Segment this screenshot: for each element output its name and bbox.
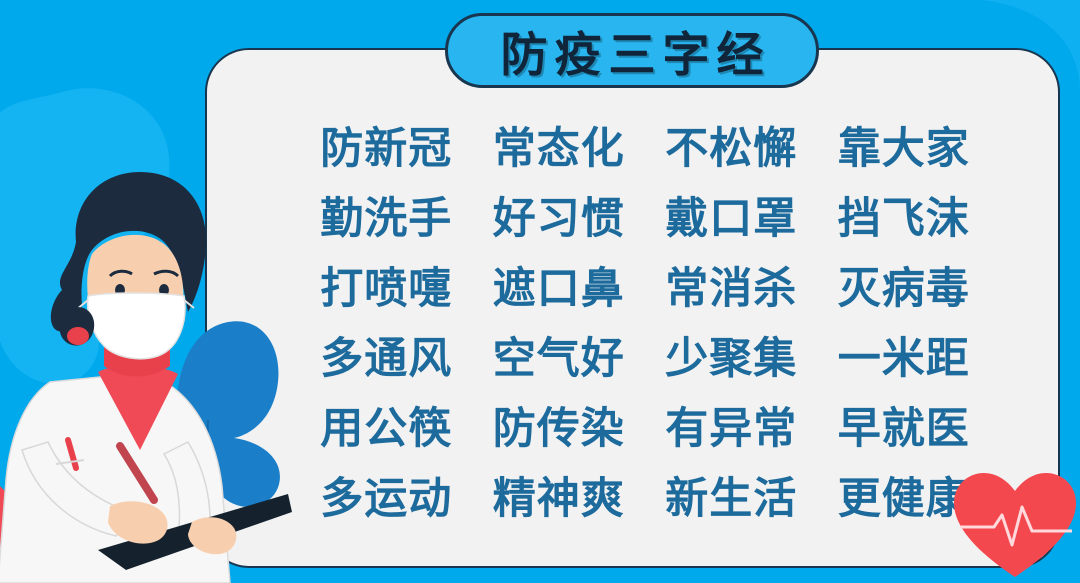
phrase-item: 挡飞沫 [818, 180, 991, 250]
phrase-item: 一米距 [818, 320, 991, 390]
face-mask [88, 293, 185, 359]
phrase-item: 戴口罩 [645, 180, 818, 250]
phrase-item: 新生活 [645, 460, 818, 530]
phrase-item: 不松懈 [645, 110, 818, 180]
poster-canvas: 防疫三字经 防新冠 常态化 不松懈 靠大家 勤洗手 好习惯 戴口罩 挡飞沫 打喷… [0, 0, 1080, 583]
phrase-item: 有异常 [645, 390, 818, 460]
phrase-item: 防新冠 [300, 110, 473, 180]
phrase-item: 灭病毒 [818, 250, 991, 320]
phrase-item: 精神爽 [473, 460, 646, 530]
phrase-item: 靠大家 [818, 110, 991, 180]
phrase-item: 空气好 [473, 320, 646, 390]
phrase-item: 勤洗手 [300, 180, 473, 250]
poster-title-pill: 防疫三字经 [445, 13, 819, 88]
phrase-item: 用公筷 [300, 390, 473, 460]
heart-with-ecg-line-icon [950, 465, 1080, 583]
phrase-item: 常态化 [473, 110, 646, 180]
phrase-item: 好习惯 [473, 180, 646, 250]
phrase-item: 多通风 [300, 320, 473, 390]
doctor-illustration [0, 150, 292, 583]
phrase-item: 多运动 [300, 460, 473, 530]
page-title: 防疫三字经 [494, 16, 771, 85]
hair-tie [67, 327, 89, 345]
phrase-item: 遮口鼻 [473, 250, 646, 320]
phrase-item: 早就医 [818, 390, 991, 460]
phrase-item: 少聚集 [645, 320, 818, 390]
phrase-item: 打喷嚏 [300, 250, 473, 320]
phrase-grid: 防新冠 常态化 不松懈 靠大家 勤洗手 好习惯 戴口罩 挡飞沫 打喷嚏 遮口鼻 … [300, 110, 990, 530]
phrase-item: 防传染 [473, 390, 646, 460]
heart-shape [954, 473, 1076, 577]
phrase-item: 常消杀 [645, 250, 818, 320]
